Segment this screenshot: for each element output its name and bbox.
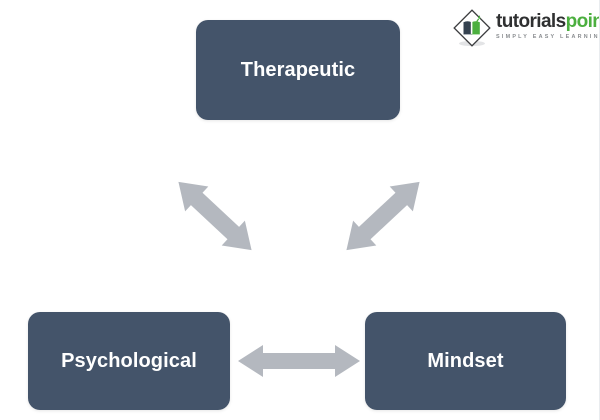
double-arrow-horizontal-icon xyxy=(236,340,362,382)
logo-text: tutorialspoint SIMPLY EASY LEARNING xyxy=(496,12,600,44)
diamond-book-icon xyxy=(452,8,492,48)
logo-word-secondary: point xyxy=(566,11,600,32)
logo-wordmark: tutorialspoint xyxy=(496,12,600,32)
node-mindset: Mindset xyxy=(365,312,566,410)
node-psychological: Psychological xyxy=(28,312,230,410)
node-therapeutic-label: Therapeutic xyxy=(241,58,355,82)
double-arrow-diagonal-up-right-icon xyxy=(172,164,258,268)
node-therapeutic: Therapeutic xyxy=(196,20,400,120)
logo-tagline: SIMPLY EASY LEARNING xyxy=(496,33,600,41)
node-mindset-label: Mindset xyxy=(427,349,503,373)
diagram-canvas: tutorialspoint SIMPLY EASY LEARNING Ther… xyxy=(0,0,600,420)
tutorialspoint-logo: tutorialspoint SIMPLY EASY LEARNING xyxy=(452,6,594,50)
logo-word-primary: tutorials xyxy=(496,11,566,32)
double-arrow-diagonal-down-right-icon xyxy=(340,164,426,268)
node-psychological-label: Psychological xyxy=(61,349,197,373)
